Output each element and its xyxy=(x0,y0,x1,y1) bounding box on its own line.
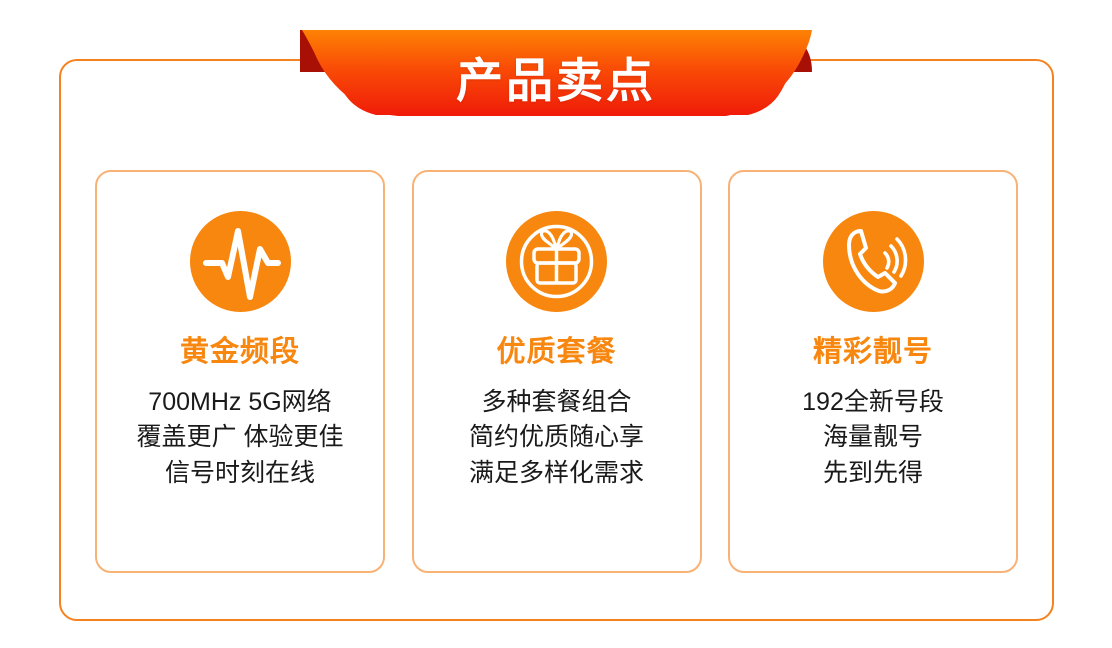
feature-card[interactable]: 精彩靓号 192全新号段 海量靓号 先到先得 xyxy=(728,170,1018,573)
feature-card-title: 精彩靓号 xyxy=(813,337,933,369)
feature-card-title: 优质套餐 xyxy=(496,337,616,369)
feature-card-line: 192全新号段 xyxy=(802,385,944,421)
feature-card-title: 黄金频段 xyxy=(180,337,300,369)
feature-card[interactable]: 黄金频段 700MHz 5G网络 覆盖更广 体验更佳 信号时刻在线 xyxy=(95,170,385,573)
feature-card-line: 多种套餐组合 xyxy=(469,385,644,421)
feature-card-line: 覆盖更广 体验更佳 xyxy=(137,420,344,456)
feature-card-line: 满足多样化需求 xyxy=(469,456,644,492)
feature-card-body: 多种套餐组合 简约优质随心享 满足多样化需求 xyxy=(469,385,644,492)
feature-card-line: 简约优质随心享 xyxy=(469,420,644,456)
feature-card-line: 信号时刻在线 xyxy=(137,456,344,492)
phone-ring-icon xyxy=(823,211,924,312)
feature-card-body: 192全新号段 海量靓号 先到先得 xyxy=(802,385,944,492)
feature-card-line: 先到先得 xyxy=(802,456,944,492)
feature-card-line: 700MHz 5G网络 xyxy=(137,385,344,421)
pulse-wave-icon xyxy=(190,211,291,312)
feature-card-list: 黄金频段 700MHz 5G网络 覆盖更广 体验更佳 信号时刻在线 优质套餐 多… xyxy=(95,170,1018,573)
feature-card-line: 海量靓号 xyxy=(802,420,944,456)
feature-card[interactable]: 优质套餐 多种套餐组合 简约优质随心享 满足多样化需求 xyxy=(412,170,702,573)
banner-title-text: 产品卖点 xyxy=(0,28,1112,126)
feature-card-body: 700MHz 5G网络 覆盖更广 体验更佳 信号时刻在线 xyxy=(137,385,344,492)
gift-box-icon xyxy=(506,211,607,312)
